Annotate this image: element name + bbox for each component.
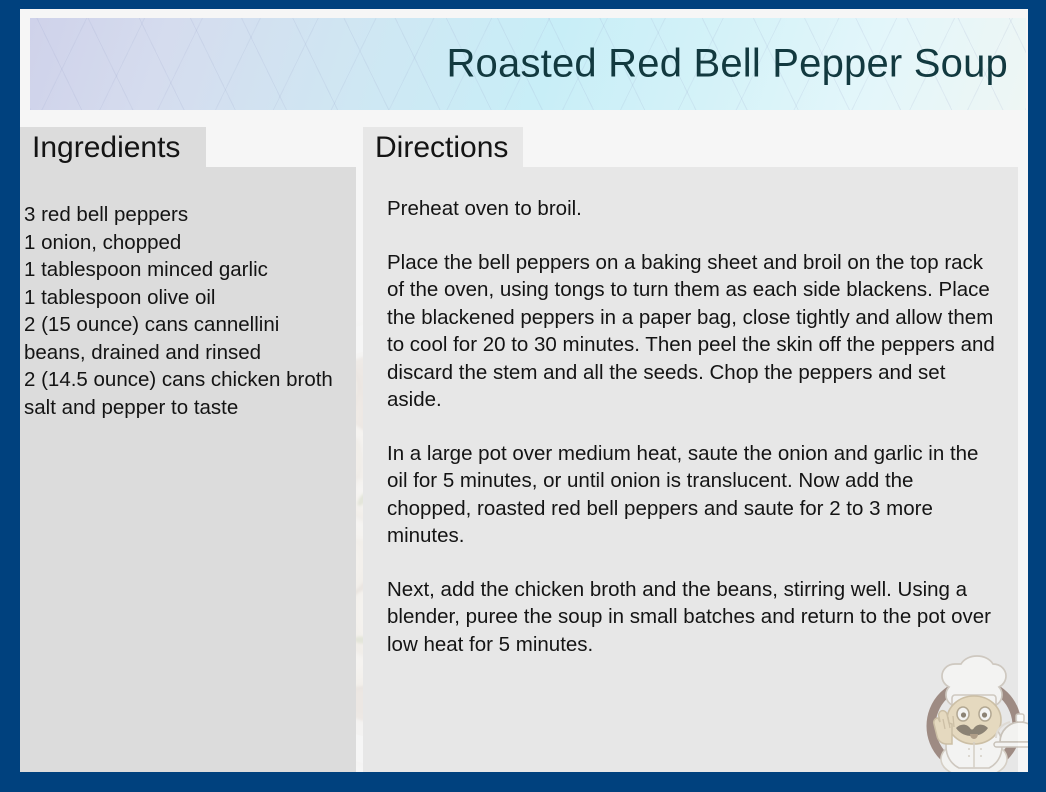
- page-title: Roasted Red Bell Pepper Soup: [446, 42, 1008, 87]
- title-banner: Roasted Red Bell Pepper Soup: [30, 18, 1026, 110]
- ingredient-line: beans, drained and rinsed: [24, 339, 350, 367]
- ingredient-line: 2 (14.5 ounce) cans chicken broth: [24, 366, 350, 394]
- directions-tab: Directions: [363, 127, 523, 167]
- ingredients-tab: Ingredients: [20, 127, 206, 167]
- ingredient-line: salt and pepper to taste: [24, 394, 350, 422]
- ingredient-line: 2 (15 ounce) cans cannellini: [24, 311, 350, 339]
- recipe-card: Roasted Red Bell Pepper Soup Ingredients…: [0, 0, 1046, 792]
- ingredient-line: 1 tablespoon olive oil: [24, 284, 350, 312]
- ingredient-line: 1 tablespoon minced garlic: [24, 256, 350, 284]
- direction-paragraph: Next, add the chicken broth and the bean…: [387, 576, 999, 659]
- ingredient-line: 1 onion, chopped: [24, 229, 350, 257]
- ingredients-panel: 3 red bell peppers1 onion, chopped1 tabl…: [20, 167, 356, 772]
- directions-body: Preheat oven to broil.Place the bell pep…: [387, 195, 999, 658]
- direction-paragraph: Place the bell peppers on a baking sheet…: [387, 249, 999, 414]
- direction-paragraph: Preheat oven to broil.: [387, 195, 999, 223]
- ingredients-list: 3 red bell peppers1 onion, chopped1 tabl…: [24, 201, 350, 421]
- direction-paragraph: In a large pot over medium heat, saute t…: [387, 440, 999, 550]
- directions-panel: Preheat oven to broil.Place the bell pep…: [363, 167, 1018, 772]
- directions-heading: Directions: [375, 131, 508, 165]
- ingredient-line: 3 red bell peppers: [24, 201, 350, 229]
- ingredients-heading: Ingredients: [32, 131, 180, 165]
